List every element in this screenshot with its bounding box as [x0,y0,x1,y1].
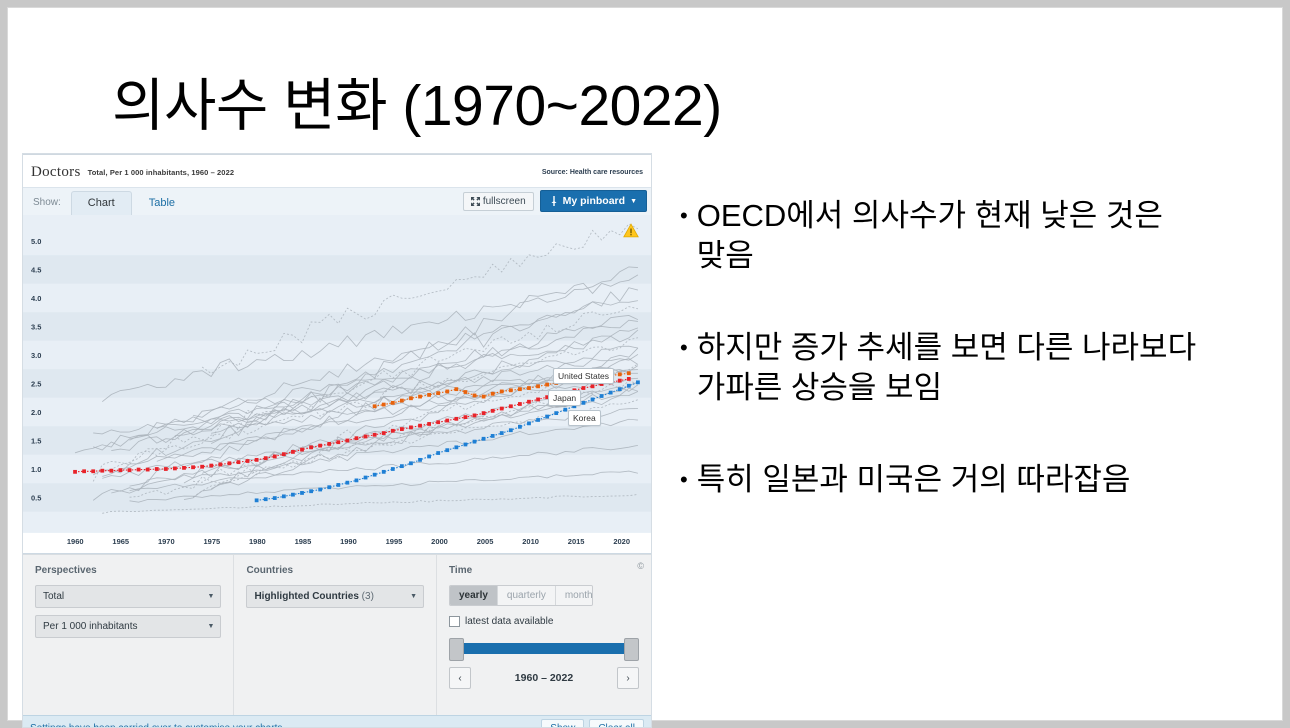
expand-icon [471,197,480,206]
clear-all-button[interactable]: Clear all [589,719,644,728]
pin-icon [550,196,558,206]
bullet-marker: • [680,196,688,236]
time-panel: Time yearly quarterly monthly latest dat… [436,555,651,715]
bullet-text: 특히 일본과 미국은 거의 따라잡음 [697,460,1131,500]
perspectives-header: Perspectives [35,565,221,576]
widget-source: Source: Health care resources [542,169,643,176]
bullet-text: OECD에서 의사수가 현재 낮은 것은 맞음 [697,196,1210,276]
series-label-korea: Korea [568,410,601,426]
x-tick-label: 2015 [568,537,585,546]
countries-panel: Countries Highlighted Countries (3) ▼ [233,555,436,715]
frequency-segmented-control: yearly quarterly monthly [449,585,593,606]
list-item: • 하지만 증가 추세를 보면 다른 나라보다 가파른 상승을 보임 [680,328,1210,408]
x-tick-label: 1980 [249,537,266,546]
widget-subtitle: Total, Per 1 000 inhabitants, 1960 – 202… [88,168,235,177]
series-label-united-states: United States [553,368,614,384]
x-tick-label: 1960 [67,537,84,546]
frequency-yearly[interactable]: yearly [450,586,498,605]
perspective-total-select[interactable]: Total ▼ [35,585,221,608]
svg-text:2.0: 2.0 [31,408,41,417]
show-label: Show: [33,197,71,215]
chart-controls: © Perspectives Total ▼ Per 1 000 inhabit… [23,554,651,715]
perspective-total-value: Total [43,591,64,602]
pinboard-label: My pinboard [563,195,625,207]
frequency-monthly[interactable]: monthly [556,586,593,605]
chevron-down-icon: ▼ [208,586,215,607]
x-tick-label: 1965 [112,537,129,546]
chart-x-axis: 1960196519701975198019851990199520002005… [23,533,651,554]
chevron-down-icon: ▼ [410,586,417,607]
x-tick-label: 1990 [340,537,357,546]
list-item: • OECD에서 의사수가 현재 낮은 것은 맞음 [680,196,1210,276]
presentation-slide: 의사수 변화 (1970~2022) • OECD에서 의사수가 현재 낮은 것… [8,8,1282,720]
perspective-unit-select[interactable]: Per 1 000 inhabitants ▼ [35,615,221,638]
bullet-text: 하지만 증가 추세를 보면 다른 나라보다 가파른 상승을 보임 [697,328,1210,408]
time-range-slider[interactable] [449,638,639,658]
show-button[interactable]: Show [541,719,584,728]
x-tick-label: 2000 [431,537,448,546]
slider-handle-end[interactable] [624,638,639,661]
footer-message: Settings have been carried over to custo… [30,723,282,728]
countries-select[interactable]: Highlighted Countries (3) ▼ [246,585,424,608]
footer-actions: Show Clear all [541,719,644,728]
time-header: Time [449,565,639,576]
tabbar-actions: fullscreen My pinboard ▼ [463,190,651,215]
svg-text:1.0: 1.0 [31,465,41,474]
pinboard-button[interactable]: My pinboard ▼ [540,190,647,212]
copyright-icon[interactable]: © [637,561,644,571]
x-tick-label: 1995 [386,537,403,546]
widget-tabbar: Show: Chart Table fullscreen [23,187,651,215]
bullet-list: • OECD에서 의사수가 현재 낮은 것은 맞음 • 하지만 증가 추세를 보… [680,196,1210,552]
checkbox-box [449,616,460,627]
widget-header: Doctors Total, Per 1 000 inhabitants, 19… [23,157,651,187]
widget-title: Doctors [31,164,81,181]
prev-period-button[interactable]: ‹ [449,667,471,689]
perspective-unit-value: Per 1 000 inhabitants [43,621,138,632]
x-tick-label: 2005 [477,537,494,546]
bullet-marker: • [680,328,688,368]
x-tick-label: 1975 [203,537,220,546]
time-range-nav: ‹ 1960 – 2022 › [449,667,639,689]
latest-data-label: latest data available [465,616,553,627]
chevron-down-icon: ▼ [630,198,637,205]
countries-header: Countries [246,565,424,576]
perspectives-panel: Perspectives Total ▼ Per 1 000 inhabitan… [23,555,233,715]
tab-table[interactable]: Table [132,191,192,215]
list-item: • 특히 일본과 미국은 거의 따라잡음 [680,460,1210,500]
warning-triangle-icon[interactable] [623,223,639,238]
series-label-japan: Japan [548,390,581,406]
svg-text:1.5: 1.5 [31,436,41,445]
svg-text:0.5: 0.5 [31,493,41,502]
countries-value: Highlighted Countries [254,591,358,602]
chevron-down-icon: ▼ [208,616,215,637]
x-tick-label: 1985 [295,537,312,546]
widget-footer: Settings have been carried over to custo… [23,715,651,728]
latest-data-checkbox[interactable]: latest data available [449,616,639,627]
slider-handle-start[interactable] [449,638,464,661]
tab-chart[interactable]: Chart [71,191,132,215]
next-period-button[interactable]: › [617,667,639,689]
svg-text:3.5: 3.5 [31,322,41,331]
svg-text:5.0: 5.0 [31,237,41,246]
x-tick-label: 1970 [158,537,175,546]
page-title: 의사수 변화 (1970~2022) [112,76,722,138]
x-tick-label: 2010 [522,537,539,546]
time-range-label: 1960 – 2022 [471,672,617,684]
fullscreen-label: fullscreen [483,196,526,207]
slider-track [455,643,633,654]
fullscreen-button[interactable]: fullscreen [463,192,534,211]
frequency-quarterly[interactable]: quarterly [498,586,556,605]
bullet-marker: • [680,460,688,500]
svg-text:2.5: 2.5 [31,379,41,388]
svg-text:4.0: 4.0 [31,294,41,303]
svg-text:3.0: 3.0 [31,351,41,360]
countries-count: (3) [362,591,374,602]
oecd-chart-widget: Doctors Total, Per 1 000 inhabitants, 19… [22,153,652,728]
chart-canvas: 0.51.01.52.02.53.03.54.04.55.0 United St… [23,215,651,533]
svg-text:4.5: 4.5 [31,265,41,274]
x-tick-label: 2020 [613,537,630,546]
